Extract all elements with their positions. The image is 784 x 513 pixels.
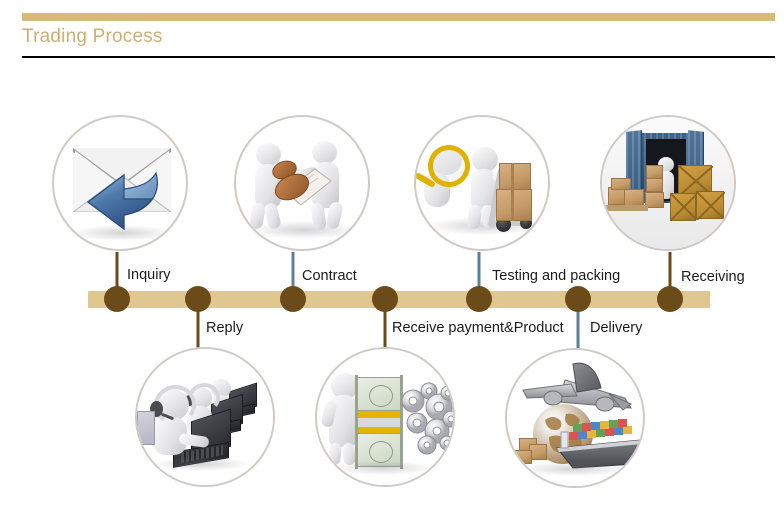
envelope-reply-icon [54, 117, 186, 249]
gears-icon [399, 379, 455, 463]
timeline-node-delivery[interactable] [565, 286, 591, 312]
timeline-bar [88, 291, 710, 308]
illustration-call-center [135, 347, 275, 487]
reply-arrow-icon [84, 165, 170, 245]
illustration-envelope-reply [52, 115, 188, 251]
illustration-shipping-container [600, 115, 736, 251]
timeline-node-payment[interactable] [372, 286, 398, 312]
header-divider [22, 56, 775, 58]
timeline-node-reply[interactable] [185, 286, 211, 312]
air-sea-freight-icon [507, 350, 643, 486]
contract-signing-icon [236, 117, 368, 249]
inspection-packing-icon [416, 117, 548, 249]
timeline-label-receiving: Receiving [681, 269, 745, 286]
timeline-node-contract[interactable] [280, 286, 306, 312]
timeline-label-testing: Testing and packing [492, 268, 620, 285]
timeline-node-testing[interactable] [466, 286, 492, 312]
illustration-air-sea-freight [505, 348, 645, 488]
shipping-container-icon [602, 117, 734, 249]
banknote-icon [357, 377, 401, 411]
page-title: Trading Process [22, 25, 163, 49]
money-gears-icon [317, 349, 453, 485]
timeline-node-receiving[interactable] [657, 286, 683, 312]
timeline-label-reply: Reply [206, 320, 243, 337]
timeline-label-contract: Contract [302, 268, 357, 285]
header-accent-bar [22, 13, 775, 21]
timeline-label-payment: Receive payment&Product [392, 320, 564, 337]
illustration-money-gears [315, 347, 455, 487]
illustration-inspection-packing [414, 115, 550, 251]
timeline-label-inquiry: Inquiry [127, 267, 171, 284]
call-center-icon [137, 349, 273, 485]
timeline-label-delivery: Delivery [590, 320, 642, 337]
illustration-contract-signing [234, 115, 370, 251]
timeline-node-inquiry[interactable] [104, 286, 130, 312]
